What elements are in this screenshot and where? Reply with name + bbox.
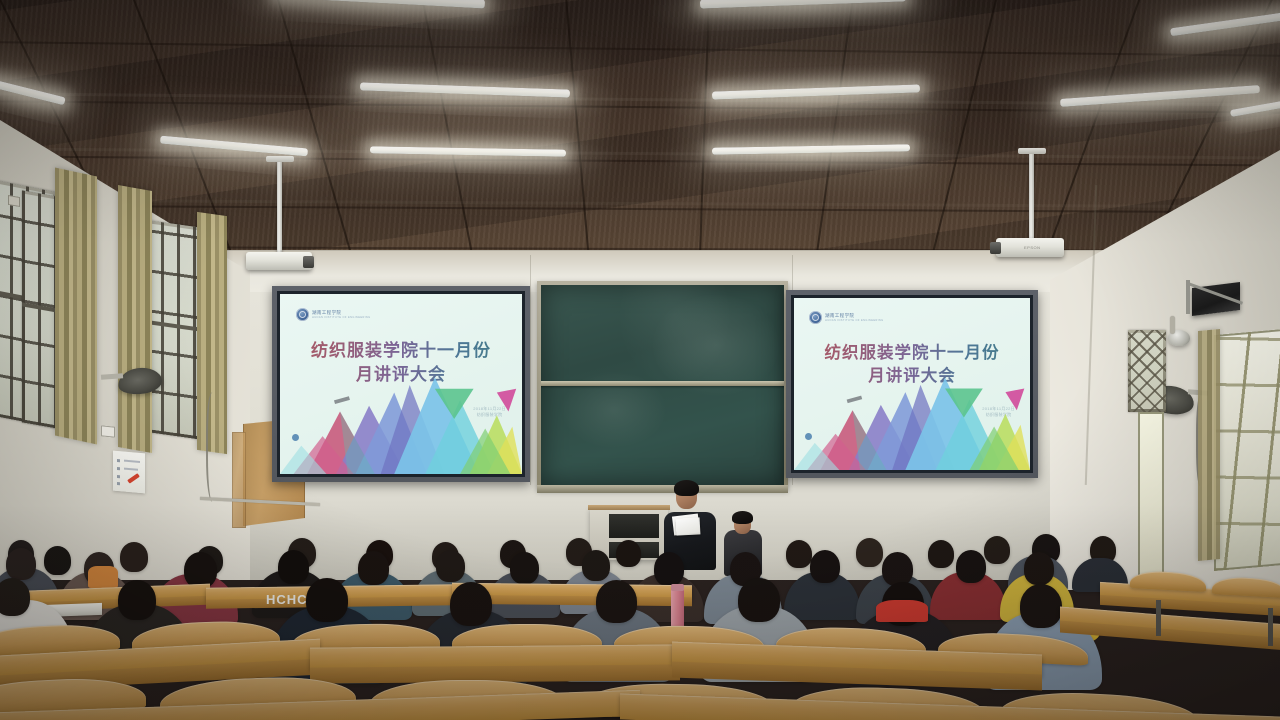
cabinet-dark-panel <box>609 514 659 538</box>
projector-pole <box>1029 152 1034 240</box>
projector-lens <box>990 242 1001 254</box>
window-curtain <box>118 185 152 453</box>
projector-brand-label: EPSON <box>1024 245 1041 250</box>
right-window-curtain <box>1198 329 1220 561</box>
projector-ceiling-plate <box>266 156 294 162</box>
left-window <box>145 220 205 440</box>
right-projection-screen: 湖南工程学院 HUNAN INSTITUTE OF ENGINEERING 纺织… <box>786 290 1038 478</box>
window-curtain <box>55 168 97 445</box>
jacket-text: HCHC <box>266 592 308 607</box>
sign-red-stroke <box>127 473 140 483</box>
left-projection-screen: 湖南工程学院 HUNAN INSTITUTE OF ENGINEERING 纺织… <box>272 286 530 482</box>
right-doorway-light <box>1138 412 1164 580</box>
projector-ceiling-plate <box>1018 148 1046 154</box>
right-window <box>1214 329 1280 571</box>
wall-outlet <box>8 195 20 207</box>
slide-right: 湖南工程学院 HUNAN INSTITUTE OF ENGINEERING 纺织… <box>794 298 1030 470</box>
classroom-photo-scene: EPSON 湖南工程学院 HUNAN INSTITUTE OF ENGINEER… <box>0 0 1280 720</box>
chalkboard-divider-rail <box>541 381 784 386</box>
cabinet-top-edge <box>588 505 670 510</box>
slide-mountain-graphic <box>280 294 522 474</box>
projector-pole <box>277 160 282 256</box>
wall-notice-sign <box>113 451 145 494</box>
chalkboard <box>537 281 788 490</box>
projector-lens <box>303 256 314 268</box>
wall-cable <box>206 392 222 502</box>
slide-left: 湖南工程学院 HUNAN INSTITUTE OF ENGINEERING 纺织… <box>280 294 522 474</box>
wall-seam <box>530 255 531 485</box>
wood-wainscot-panel <box>232 432 246 528</box>
thermos-cap <box>671 584 684 591</box>
presenter-hair <box>674 480 699 496</box>
desk-leg <box>1268 608 1273 646</box>
desk-leg <box>1156 600 1161 636</box>
right-transom-window <box>1128 330 1166 412</box>
chalkboard-surface <box>541 285 784 486</box>
slide-mountain-graphic <box>794 298 1030 470</box>
wall-outlet <box>101 425 115 437</box>
assistant-hair <box>732 511 753 524</box>
chalkboard-chalk-tray <box>537 485 788 493</box>
presenter-papers <box>676 517 701 535</box>
camera-mount-arm <box>1170 316 1175 334</box>
